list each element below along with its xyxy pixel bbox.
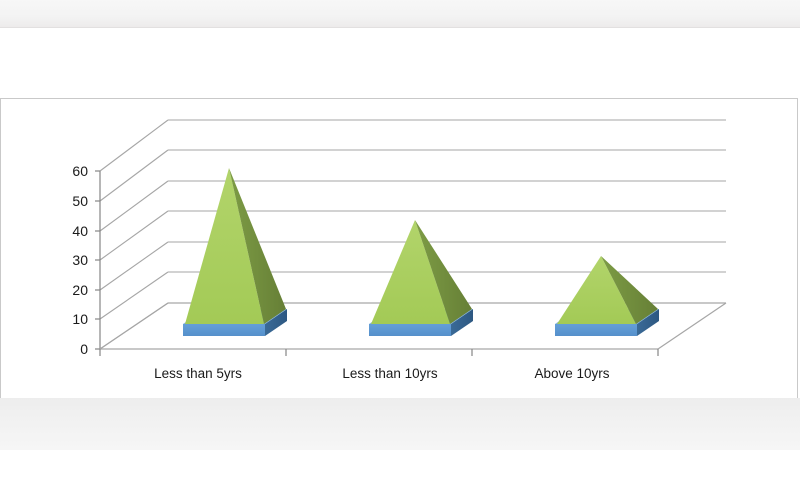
y-axis: [95, 171, 100, 349]
pyramid-bar-2[interactable]: [369, 220, 473, 336]
x-axis-ticks: [100, 349, 658, 356]
y-tick-label-50: 50: [54, 194, 88, 208]
x-category-label-2: Less than 10yrs: [305, 366, 475, 381]
y-tick-label-30: 30: [54, 253, 88, 267]
bar-2-blue-front: [369, 324, 451, 336]
pyramid-bar-1[interactable]: [183, 168, 287, 336]
screenshot-stage: 60 50 40 30 20 10 0 Less than 5yrs Less …: [0, 0, 800, 450]
y-tick-label-40: 40: [54, 224, 88, 238]
depth-connectors: [100, 120, 168, 349]
x-category-label-3: Above 10yrs: [492, 366, 652, 381]
slide-canvas: 60 50 40 30 20 10 0 Less than 5yrs Less …: [0, 28, 800, 398]
x-category-label-1: Less than 5yrs: [118, 366, 278, 381]
letterbox-band-top: [0, 0, 800, 28]
bar-3-blue-front: [555, 324, 637, 336]
y-tick-label-20: 20: [54, 283, 88, 297]
letterbox-band-bottom: [0, 398, 800, 450]
y-tick-label-0: 0: [54, 342, 88, 356]
bar-1-blue-front: [183, 324, 265, 336]
y-tick-label-60: 60: [54, 164, 88, 178]
pyramid-bar-3[interactable]: [555, 256, 659, 336]
y-tick-label-10: 10: [54, 312, 88, 326]
